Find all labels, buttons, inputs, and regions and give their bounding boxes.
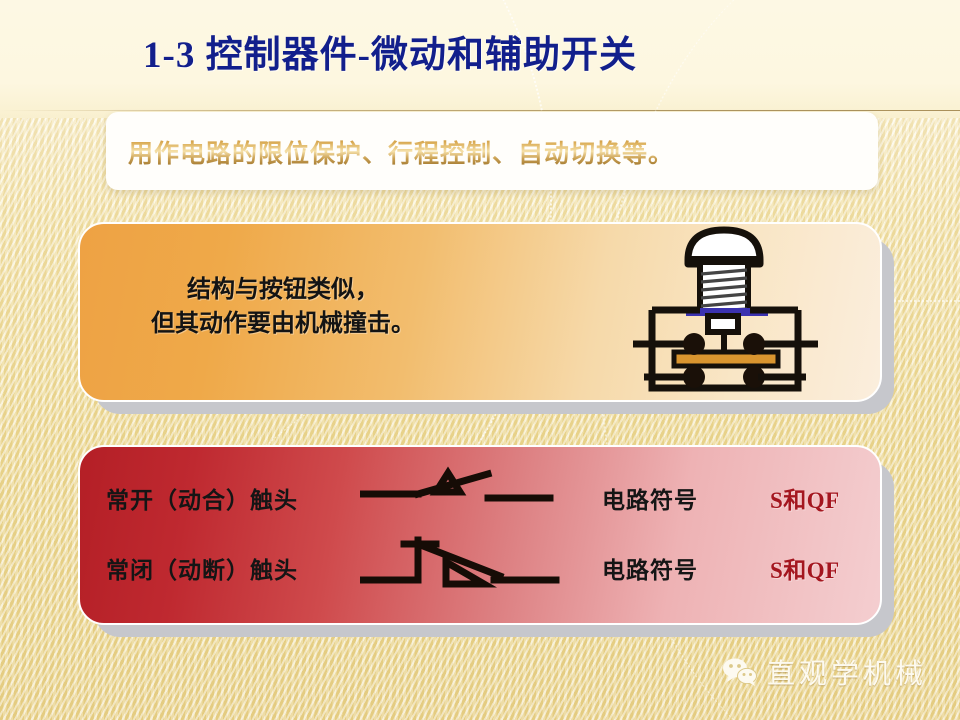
orange-panel-text: 结构与按钮类似， 但其动作要由机械撞击。 (118, 273, 448, 341)
caption-box: 用作电路的限位保护、行程控制、自动切换等。 (106, 112, 878, 190)
row-symbol-label-normally-closed: 电路符号 (602, 551, 698, 585)
bridge-bar-icon (674, 352, 778, 366)
slide-canvas: 1-3 控制器件-微动和辅助开关 用作电路的限位保护、行程控制、自动切换等。 结… (0, 0, 960, 720)
page-title: 1-3 控制器件-微动和辅助开关 (0, 24, 780, 78)
contact-dot-upper-left (683, 333, 705, 355)
orange-panel-line-2: 但其动作要由机械撞击。 (118, 307, 448, 341)
plunger-icon (708, 316, 738, 332)
row-label-normally-closed: 常闭（动断）触头 (106, 551, 298, 585)
row-symbol-label-normally-open: 电路符号 (602, 481, 698, 515)
wechat-icon (722, 657, 758, 687)
contact-dot-upper-right (743, 333, 765, 355)
normally-closed-limit-contact-symbol (360, 532, 570, 592)
watermark: 直观学机械 (722, 652, 927, 692)
row-label-normally-open: 常开（动合）触头 (106, 481, 298, 515)
orange-panel-line-1: 结构与按钮类似， (118, 273, 448, 307)
normally-open-limit-contact-symbol (360, 462, 570, 522)
background-divider-line (0, 110, 960, 111)
button-cap-lip (688, 256, 760, 265)
row-code-normally-open: S和QF (770, 481, 840, 515)
row-code-normally-closed: S和QF (770, 551, 840, 585)
microswitch-structure-diagram (630, 222, 850, 398)
watermark-text: 直观学机械 (767, 652, 927, 692)
caption-text: 用作电路的限位保护、行程控制、自动切换等。 (128, 134, 674, 170)
